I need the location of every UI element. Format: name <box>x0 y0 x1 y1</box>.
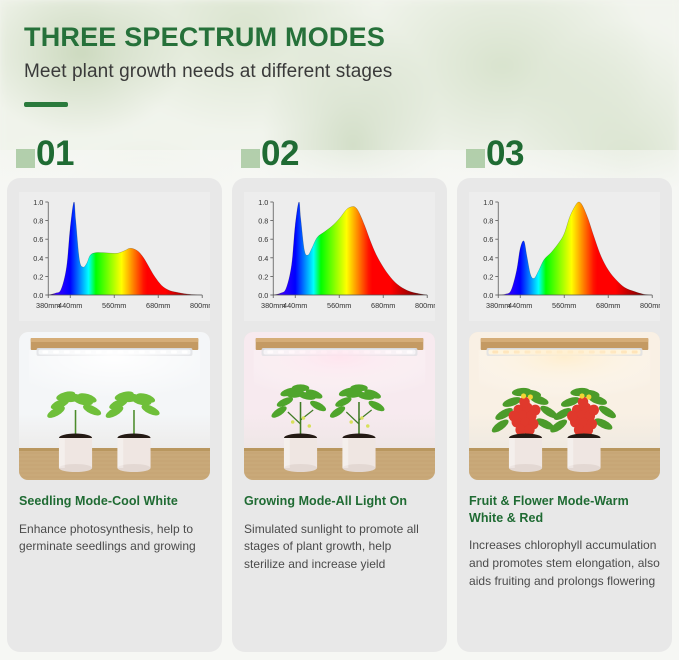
accent-divider <box>24 102 68 107</box>
card-number-badge: 02 <box>241 136 299 171</box>
svg-text:0.6: 0.6 <box>258 235 268 244</box>
svg-text:0.2: 0.2 <box>483 272 493 281</box>
mode-photo <box>469 332 660 480</box>
card-description: Enhance photosynthesis, help to germinat… <box>19 521 210 556</box>
badge-square-icon <box>466 149 485 168</box>
svg-text:680mm: 680mm <box>596 301 620 310</box>
card-number: 01 <box>36 136 74 171</box>
mode-card[interactable]: 010.00.20.40.60.81.0380mm440mm560mm680mm… <box>7 178 222 652</box>
page-subtitle: Meet plant growth needs at different sta… <box>24 61 392 83</box>
spectrum-chart: 0.00.20.40.60.81.0380mm440mm560mm680mm80… <box>19 192 210 321</box>
svg-text:0.0: 0.0 <box>483 291 493 300</box>
svg-text:440mm: 440mm <box>508 301 532 310</box>
svg-text:680mm: 680mm <box>371 301 395 310</box>
svg-text:1.0: 1.0 <box>258 198 268 207</box>
svg-text:560mm: 560mm <box>102 301 126 310</box>
svg-text:800mm: 800mm <box>415 301 435 310</box>
svg-text:680mm: 680mm <box>146 301 170 310</box>
svg-text:800mm: 800mm <box>640 301 660 310</box>
svg-text:0.4: 0.4 <box>483 254 493 263</box>
badge-square-icon <box>241 149 260 168</box>
svg-text:0.8: 0.8 <box>483 217 493 226</box>
svg-text:0.6: 0.6 <box>33 235 43 244</box>
badge-square-icon <box>16 149 35 168</box>
svg-text:560mm: 560mm <box>552 301 576 310</box>
card-title: Fruit & Flower Mode-Warm White & Red <box>469 493 660 526</box>
svg-text:440mm: 440mm <box>58 301 82 310</box>
svg-text:440mm: 440mm <box>283 301 307 310</box>
spectrum-chart: 0.00.20.40.60.81.0380mm440mm560mm680mm80… <box>469 192 660 321</box>
mode-photo <box>244 332 435 480</box>
svg-text:380mm: 380mm <box>36 301 60 310</box>
svg-text:1.0: 1.0 <box>33 198 43 207</box>
spectrum-modes-page: THREE SPECTRUM MODES Meet plant growth n… <box>0 0 679 660</box>
spectrum-chart: 0.00.20.40.60.81.0380mm440mm560mm680mm80… <box>244 192 435 321</box>
svg-text:0.2: 0.2 <box>33 272 43 281</box>
mode-card[interactable]: 030.00.20.40.60.81.0380mm440mm560mm680mm… <box>457 178 672 652</box>
svg-text:1.0: 1.0 <box>483 198 493 207</box>
svg-text:0.2: 0.2 <box>258 272 268 281</box>
card-number-badge: 03 <box>466 136 524 171</box>
page-title: THREE SPECTRUM MODES <box>24 22 392 53</box>
mode-photo <box>19 332 210 480</box>
page-header: THREE SPECTRUM MODES Meet plant growth n… <box>24 22 392 107</box>
svg-text:380mm: 380mm <box>261 301 285 310</box>
card-number: 02 <box>261 136 299 171</box>
card-description: Simulated sunlight to promote all stages… <box>244 521 435 574</box>
svg-text:0.4: 0.4 <box>258 254 268 263</box>
card-title: Growing Mode-All Light On <box>244 493 435 510</box>
mode-cards-row: 010.00.20.40.60.81.0380mm440mm560mm680mm… <box>7 178 672 652</box>
card-number: 03 <box>486 136 524 171</box>
card-title: Seedling Mode-Cool White <box>19 493 210 510</box>
svg-text:0.0: 0.0 <box>258 291 268 300</box>
card-number-badge: 01 <box>16 136 74 171</box>
svg-text:560mm: 560mm <box>327 301 351 310</box>
svg-text:0.6: 0.6 <box>483 235 493 244</box>
mode-card[interactable]: 020.00.20.40.60.81.0380mm440mm560mm680mm… <box>232 178 447 652</box>
svg-text:0.8: 0.8 <box>33 217 43 226</box>
svg-text:0.8: 0.8 <box>258 217 268 226</box>
svg-text:0.4: 0.4 <box>33 254 43 263</box>
svg-text:380mm: 380mm <box>486 301 510 310</box>
svg-text:800mm: 800mm <box>190 301 210 310</box>
svg-text:0.0: 0.0 <box>33 291 43 300</box>
card-description: Increases chlorophyll accumulation and p… <box>469 537 660 590</box>
